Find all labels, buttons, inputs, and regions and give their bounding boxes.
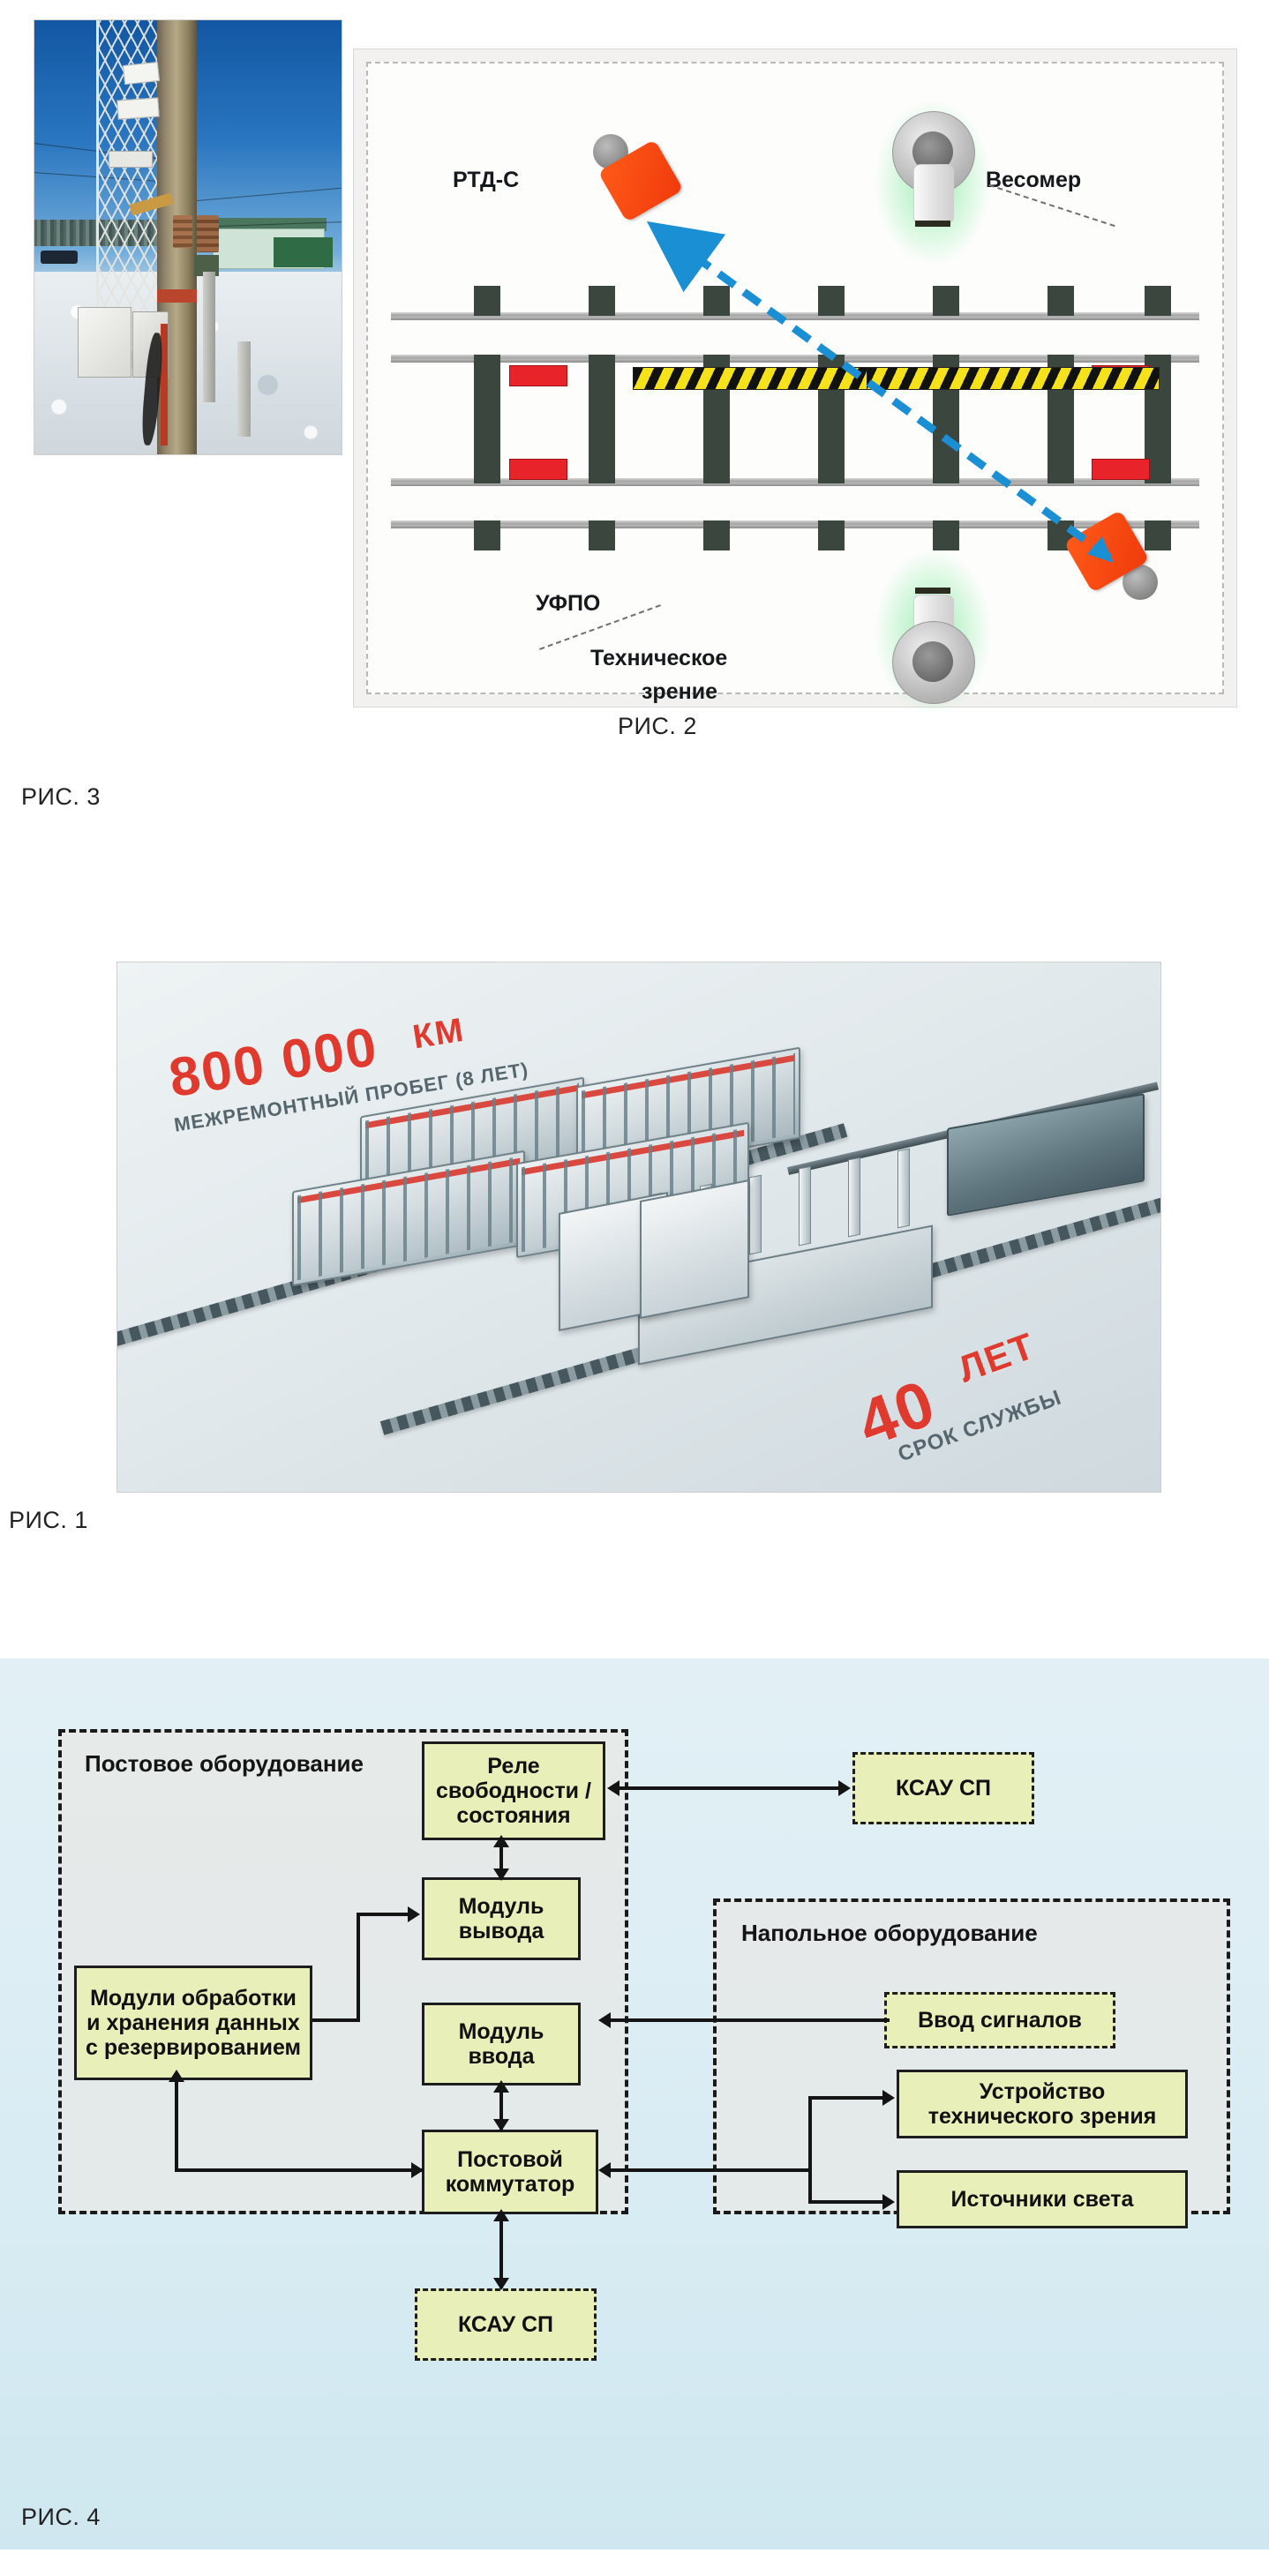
overlay-headline-unit: КМ (410, 1012, 468, 1058)
box-relay-line3: состояния (456, 1803, 570, 1828)
flatcar-stanchion (848, 1157, 860, 1238)
box-output-module-line1: Модуль (459, 1894, 544, 1919)
box-vision-device-line2: технического зрения (928, 2104, 1157, 2129)
figure-1-caption: РИС. 1 (9, 1507, 88, 1534)
box-input-module-line2: ввода (468, 2044, 534, 2069)
box-input-module[interactable]: Модуль ввода (422, 2003, 581, 2086)
link-switch-feedback-h (175, 2168, 424, 2172)
arrow-to-light-sources (882, 2194, 895, 2210)
arrow-into-switch (411, 2162, 424, 2178)
figure-2-caption: РИС. 2 (618, 713, 697, 740)
cargo-rack-mid (640, 1179, 749, 1319)
box-post-switch[interactable]: Постовой коммутатор (422, 2130, 598, 2214)
box-processing-line3: с резервированием (86, 2035, 301, 2060)
flatcar-stanchion (799, 1166, 811, 1247)
building-secondary (274, 237, 332, 267)
arrow-ksau-to-relay (607, 1780, 619, 1796)
link-processing-to-output (357, 1913, 411, 1916)
figure-4-block-diagram: Постовое оборудование Напольное оборудов… (0, 1659, 1269, 2550)
arrow-up-relay (493, 1835, 509, 1847)
box-vision-device[interactable]: Устройство технического зрения (897, 2070, 1188, 2138)
label-tech-vision-line1: Техническое (590, 646, 727, 671)
box-signal-input[interactable]: Ввод сигналов (884, 1992, 1115, 2048)
camera-middle (116, 97, 160, 119)
link-signal-to-input (609, 2018, 890, 2022)
box-relay[interactable]: Реле свободности / состояния (422, 1741, 605, 1840)
flatcar-stanchion (897, 1149, 910, 1229)
box-output-module-line2: вывода (459, 1919, 544, 1943)
arrow-up-to-switch (493, 2209, 509, 2221)
link-switch-right (609, 2168, 812, 2172)
link-processing-out (312, 2018, 360, 2022)
box-relay-line1: Реле (487, 1754, 539, 1778)
box-processing-storage[interactable]: Модули обработки и хранения данных с рез… (74, 1966, 312, 2080)
arrow-up-input-module (493, 2080, 509, 2093)
label-tech-vision-line2: зрение (642, 679, 717, 705)
link-relay-ksau (618, 1786, 840, 1790)
white-post (203, 272, 215, 402)
schematic-frame: РТД-С (366, 62, 1224, 694)
box-post-switch-line1: Постовой (457, 2147, 563, 2172)
flatcar-stanchion (749, 1175, 762, 1255)
arrow-up-to-processing (169, 2070, 184, 2082)
arrow-relay-to-ksau (838, 1780, 851, 1796)
arrow-back-to-switch (598, 2162, 611, 2178)
link-fanout-vertical (808, 2096, 812, 2204)
arrow-to-vision-device (882, 2090, 895, 2106)
arrow-down-output (493, 1868, 509, 1881)
arrow-down-to-ksau (493, 2278, 509, 2290)
arrow-down-switch (493, 2119, 509, 2131)
link-processing-vertical (357, 1913, 360, 2020)
box-relay-line2: свободности / (436, 1778, 591, 1803)
insulator-stack-right (197, 215, 218, 252)
box-input-module-line1: Модуль (459, 2019, 544, 2044)
link-to-vision (808, 2096, 886, 2100)
parked-car (41, 251, 78, 265)
link-switch-feedback-v (175, 2080, 178, 2172)
link-to-light (808, 2200, 886, 2204)
pole-marker-band (157, 289, 197, 303)
diagonal-flow-arrow (368, 64, 1198, 681)
arrow-to-output-module (408, 1906, 420, 1922)
figure-2-schematic: РТД-С (353, 49, 1237, 708)
group-post-equipment-label: Постовое оборудование (85, 1750, 364, 1778)
box-ksau-top[interactable]: КСАУ СП (852, 1752, 1034, 1824)
equipment-platform (109, 151, 154, 168)
box-processing-line1: Модули обработки (90, 1986, 297, 2011)
white-post-secondary (237, 341, 252, 437)
camera-upper (123, 62, 160, 85)
box-processing-line2: и хранения данных (86, 2011, 300, 2035)
box-light-sources[interactable]: Источники света (897, 2170, 1188, 2228)
box-vision-device-line1: Устройство (980, 2079, 1106, 2104)
figure-4-caption: РИС. 4 (21, 2504, 101, 2531)
box-post-switch-line2: коммутатор (446, 2172, 575, 2197)
figure-3-photo (34, 19, 342, 455)
figure-3-caption: РИС. 3 (21, 783, 101, 811)
figure-1-photo: 800 000 КМ МЕЖРЕМОНТНЫЙ ПРОБЕГ (8 ЛЕТ) 4… (116, 962, 1161, 1493)
equipment-cabinet (78, 307, 131, 378)
arrow-to-input-module (598, 2012, 611, 2028)
group-floor-equipment-label: Напольное оборудование (741, 1920, 1038, 1947)
box-output-module[interactable]: Модуль вывода (422, 1877, 581, 1960)
insulator-stack-left (173, 215, 193, 248)
box-ksau-bottom[interactable]: КСАУ СП (415, 2288, 597, 2361)
label-ufpo: УФПО (536, 591, 600, 617)
